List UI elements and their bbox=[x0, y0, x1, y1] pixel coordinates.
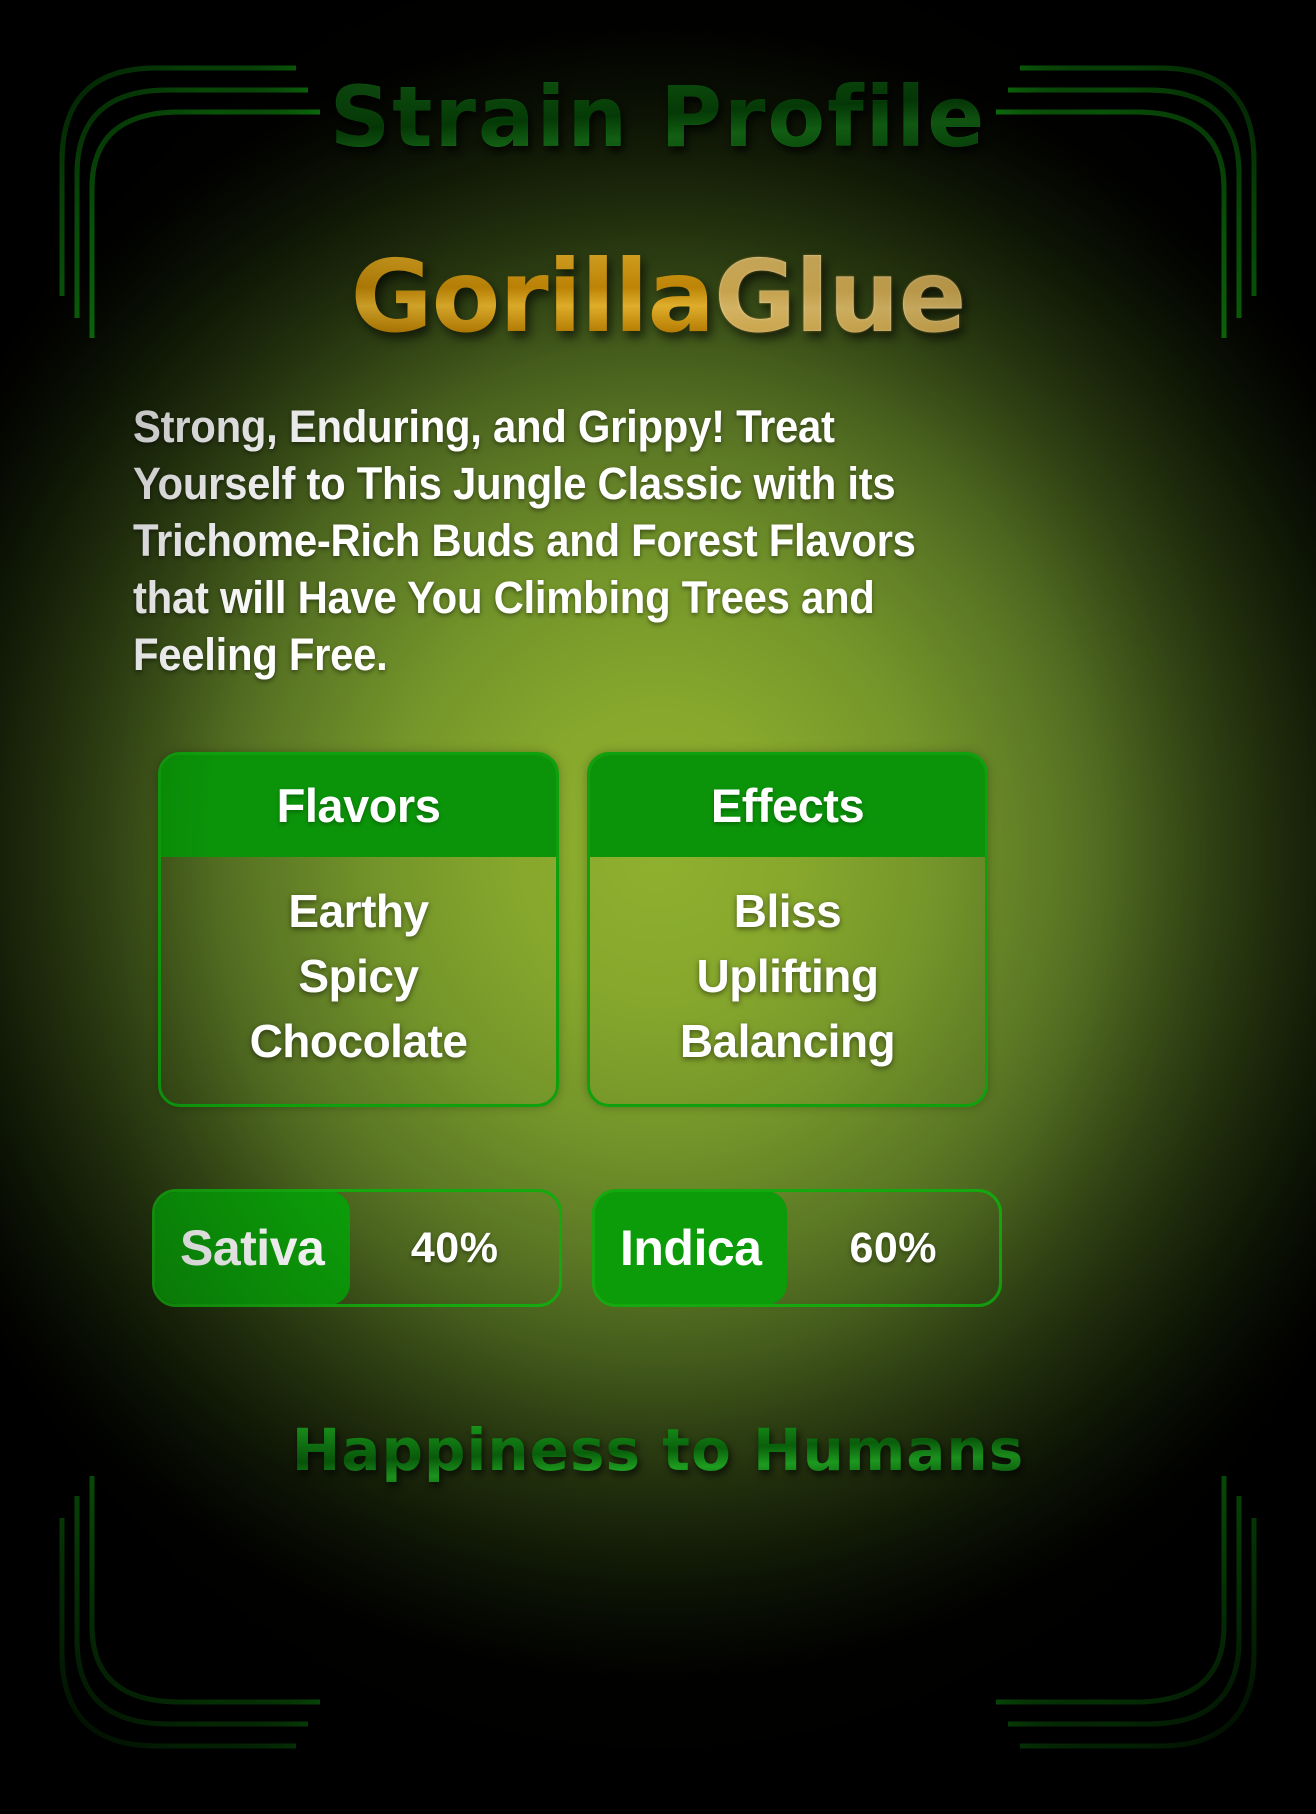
strain-name-secondary: Glue bbox=[714, 238, 965, 355]
corner-flourish-icon-bottom-right bbox=[970, 1438, 1270, 1768]
ratio-label-pill: Indica bbox=[594, 1191, 787, 1305]
ratio-value-track: 60% bbox=[787, 1192, 999, 1304]
corner-flourish-icon-bottom-left bbox=[46, 1438, 346, 1768]
attribute-card-body: Bliss Uplifting Balancing bbox=[590, 857, 985, 1104]
page-title: Strain Profile bbox=[0, 68, 1316, 166]
attribute-card-title: Effects bbox=[711, 778, 864, 833]
list-item: Uplifting bbox=[600, 944, 975, 1009]
ratio-bar-sativa: Sativa 40% bbox=[152, 1189, 562, 1307]
list-item: Earthy bbox=[171, 879, 546, 944]
footer-tagline: Happiness to Humans bbox=[0, 1416, 1316, 1484]
strain-description: Strong, Enduring, and Grippy! Treat Your… bbox=[133, 398, 961, 683]
attribute-card-title: Flavors bbox=[277, 778, 441, 833]
attribute-card-effects: Effects Bliss Uplifting Balancing bbox=[587, 752, 988, 1107]
attribute-card-body: Earthy Spicy Chocolate bbox=[161, 857, 556, 1104]
ratio-bar-indica: Indica 60% bbox=[592, 1189, 1002, 1307]
list-item: Chocolate bbox=[171, 1009, 546, 1074]
list-item: Bliss bbox=[600, 879, 975, 944]
attribute-card-header: Flavors bbox=[160, 754, 557, 857]
ratio-bar-group: Sativa 40% Indica 60% bbox=[152, 1189, 1164, 1307]
list-item: Spicy bbox=[171, 944, 546, 1009]
list-item: Balancing bbox=[600, 1009, 975, 1074]
ratio-label: Indica bbox=[620, 1219, 761, 1277]
ratio-label: Sativa bbox=[180, 1219, 324, 1277]
ratio-value: 40% bbox=[411, 1224, 499, 1273]
attribute-card-header: Effects bbox=[589, 754, 986, 857]
ratio-value-track: 40% bbox=[350, 1192, 559, 1304]
strain-name: GorillaGlue bbox=[0, 238, 1316, 355]
attribute-card-group: Flavors Earthy Spicy Chocolate Effects B… bbox=[158, 752, 1158, 1107]
strain-profile-card: Strain Profile GorillaGlue Strong, Endur… bbox=[0, 0, 1316, 1814]
ratio-value: 60% bbox=[849, 1224, 937, 1273]
attribute-card-flavors: Flavors Earthy Spicy Chocolate bbox=[158, 752, 559, 1107]
strain-name-primary: Gorilla bbox=[351, 238, 714, 355]
ratio-label-pill: Sativa bbox=[154, 1191, 350, 1305]
